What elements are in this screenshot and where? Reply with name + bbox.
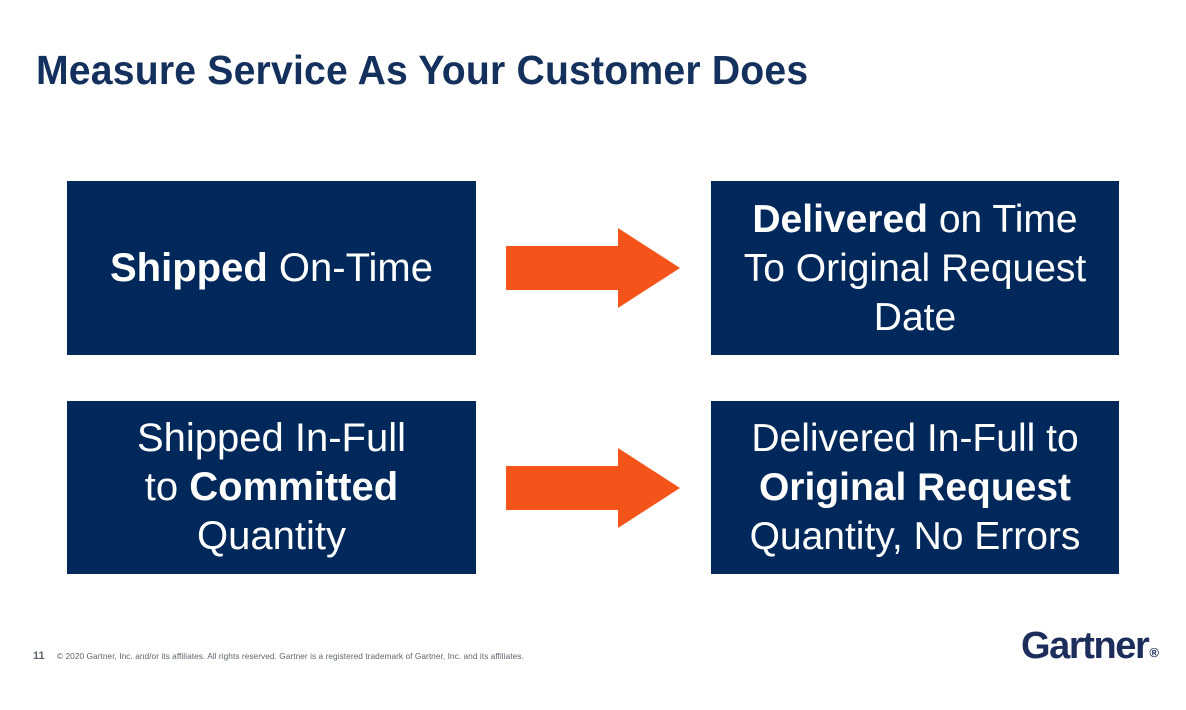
text-segment-committed: Committed bbox=[189, 465, 398, 509]
gartner-logo-wordmark: Gartner bbox=[1021, 625, 1148, 667]
arrow-right-shape bbox=[506, 448, 680, 528]
text-segment-shipped-in-full: Shipped In-Full bbox=[137, 416, 406, 460]
process-box-text: Delivered In-Full to Original Request Qu… bbox=[740, 414, 1091, 561]
text-segment-original-request: Original Request bbox=[759, 466, 1071, 509]
process-box-delivered-in-full: Delivered In-Full to Original Request Qu… bbox=[711, 401, 1119, 574]
copyright-notice: © 2020 Gartner, Inc. and/or its affiliat… bbox=[57, 651, 524, 661]
process-box-text: Shipped On-Time bbox=[100, 244, 443, 293]
process-box-shipped-on-time: Shipped On-Time bbox=[67, 181, 476, 355]
process-box-text: Shipped In-Full to Committed Quantity bbox=[127, 414, 416, 561]
registered-trademark-icon: ® bbox=[1149, 645, 1159, 660]
process-box-text: Delivered on Time To Original Request Da… bbox=[734, 195, 1097, 342]
slide-canvas: Measure Service As Your Customer Does Sh… bbox=[0, 0, 1186, 710]
page-title: Measure Service As Your Customer Does bbox=[36, 44, 991, 96]
text-segment-quantity: Quantity bbox=[197, 514, 346, 558]
text-segment-on-time: on Time bbox=[928, 198, 1078, 241]
process-box-delivered-on-time: Delivered on Time To Original Request Da… bbox=[711, 181, 1119, 355]
text-segment-to-original-request: To Original Request bbox=[744, 247, 1087, 290]
arrow-right-icon-row-2 bbox=[506, 448, 680, 528]
text-segment-date: Date bbox=[874, 296, 956, 339]
text-segment-to: to bbox=[145, 465, 189, 509]
text-segment-shipped: Shipped bbox=[110, 246, 268, 290]
arrow-right-shape bbox=[506, 228, 680, 308]
slide-page-number: 11 bbox=[33, 650, 45, 662]
text-segment-on-time: On-Time bbox=[268, 246, 433, 290]
process-box-shipped-in-full: Shipped In-Full to Committed Quantity bbox=[67, 401, 476, 574]
text-segment-delivered-in-full-to: Delivered In-Full to bbox=[751, 417, 1078, 460]
text-segment-delivered: Delivered bbox=[752, 198, 928, 241]
gartner-logo: Gartner® bbox=[1021, 625, 1158, 675]
text-segment-quantity-no-errors: Quantity, No Errors bbox=[750, 515, 1081, 558]
arrow-right-icon-row-1 bbox=[506, 228, 680, 308]
